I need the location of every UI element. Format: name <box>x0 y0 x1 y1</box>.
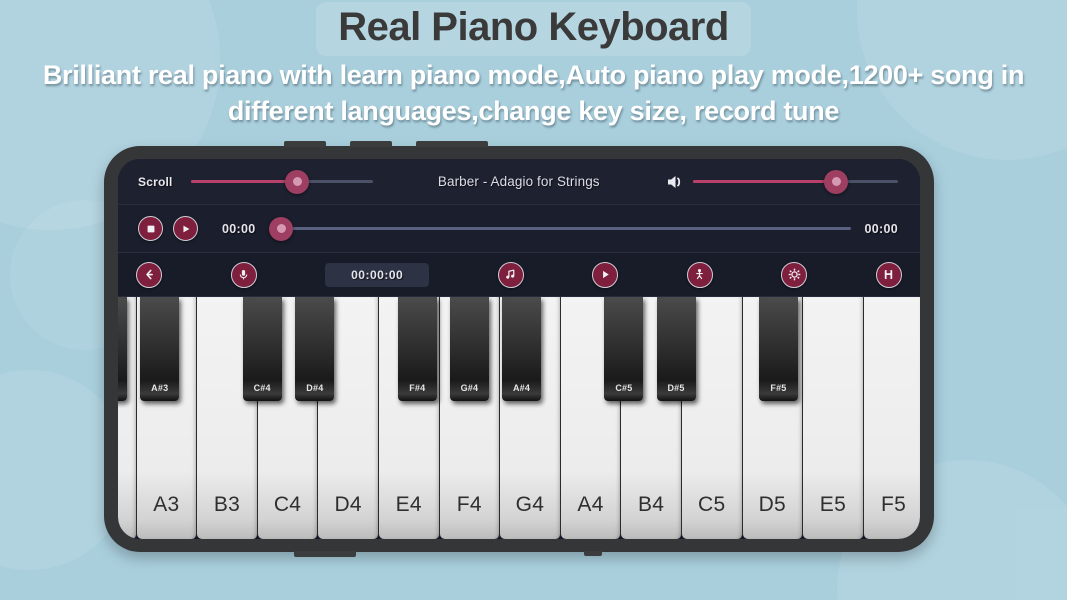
white-key-label: C4 <box>274 493 301 517</box>
toolbar-actions-row: 00:00:00 <box>118 253 920 297</box>
white-key-label: E4 <box>396 493 422 517</box>
elapsed-time: 00:00 <box>222 222 255 236</box>
white-key-label: B3 <box>214 493 240 517</box>
white-key[interactable]: E5 <box>803 297 864 539</box>
slider-thumb[interactable] <box>285 170 309 194</box>
black-key[interactable]: G#3 <box>118 297 127 401</box>
app-promo-screenshot: Real Piano Keyboard Brilliant real piano… <box>0 0 1067 600</box>
black-key[interactable]: D#4 <box>295 297 334 401</box>
white-key-label: D5 <box>759 493 786 517</box>
white-key-label: F4 <box>457 493 482 517</box>
white-key-label: A3 <box>153 493 179 517</box>
stop-icon <box>145 223 157 235</box>
seek-slider[interactable] <box>269 219 850 239</box>
page-title: Real Piano Keyboard <box>338 4 729 50</box>
slider-fill <box>191 180 293 183</box>
device-button <box>284 141 326 147</box>
slider-track <box>269 227 850 230</box>
black-key-label: D#4 <box>306 383 323 393</box>
device-button <box>350 141 392 147</box>
white-key-label: E5 <box>820 493 846 517</box>
black-key-label: A#3 <box>151 383 168 393</box>
black-key-label: G#4 <box>461 383 479 393</box>
phone-screen: Scroll Barber - Adagio for Strings <box>118 159 920 539</box>
settings-button[interactable] <box>781 262 807 288</box>
phone-device-frame: Scroll Barber - Adagio for Strings <box>104 146 934 552</box>
black-key-label: F#5 <box>770 383 786 393</box>
black-key[interactable]: A#3 <box>140 297 179 401</box>
device-button <box>584 551 602 556</box>
toolbar-scroll-row: Scroll Barber - Adagio for Strings <box>118 159 920 205</box>
white-key-label: F5 <box>881 493 906 517</box>
white-key-label: G4 <box>516 493 545 517</box>
white-key-label: D4 <box>334 493 361 517</box>
slider-thumb[interactable] <box>269 217 293 241</box>
white-key[interactable]: F5 <box>864 297 920 539</box>
microphone-icon <box>237 268 250 281</box>
header-title-area: Real Piano Keyboard <box>0 0 1067 56</box>
scroll-label: Scroll <box>138 175 173 189</box>
white-key-label: C5 <box>698 493 725 517</box>
timecode-display[interactable]: 00:00:00 <box>325 263 429 287</box>
black-key[interactable]: D#5 <box>657 297 696 401</box>
volume-icon <box>665 172 685 192</box>
slider-thumb[interactable] <box>824 170 848 194</box>
white-key-label: A4 <box>577 493 603 517</box>
device-button <box>294 551 356 557</box>
white-key-label: B4 <box>638 493 664 517</box>
gear-icon <box>788 268 801 281</box>
scroll-slider[interactable] <box>191 172 373 192</box>
back-button[interactable] <box>136 262 162 288</box>
song-title: Barber - Adagio for Strings <box>373 174 665 189</box>
play-icon <box>180 223 192 235</box>
black-key-label: D#5 <box>667 383 684 393</box>
black-key[interactable]: F#5 <box>759 297 798 401</box>
black-key-label: C#5 <box>615 383 632 393</box>
songs-button[interactable] <box>498 262 524 288</box>
slider-fill <box>693 180 832 183</box>
black-key[interactable]: C#5 <box>604 297 643 401</box>
black-key-label: A#4 <box>513 383 530 393</box>
device-button <box>416 141 488 147</box>
black-key-label: C#4 <box>254 383 271 393</box>
black-key[interactable]: C#4 <box>243 297 282 401</box>
music-note-icon <box>504 268 517 281</box>
play-button[interactable] <box>173 216 198 241</box>
black-key-label: F#4 <box>409 383 425 393</box>
total-time: 00:00 <box>865 222 898 236</box>
black-key[interactable]: A#4 <box>502 297 541 401</box>
back-arrow-icon <box>143 268 156 281</box>
save-icon <box>882 268 895 281</box>
black-key[interactable]: G#4 <box>450 297 489 401</box>
kids-mode-icon <box>693 268 706 281</box>
kids-mode-button[interactable] <box>687 262 713 288</box>
play-icon <box>599 268 612 281</box>
piano-keyboard[interactable]: A3B3C4D4E4F4G4A4B4C5D5E5F5 G#3A#3C#4D#4F… <box>118 297 920 539</box>
title-pill: Real Piano Keyboard <box>316 2 751 56</box>
volume-slider[interactable] <box>693 172 898 192</box>
stop-button[interactable] <box>138 216 163 241</box>
page-subtitle: Brilliant real piano with learn piano mo… <box>34 58 1034 129</box>
toolbar-playback-row: 00:00 00:00 <box>118 205 920 253</box>
save-button[interactable] <box>876 262 902 288</box>
auto-play-button[interactable] <box>592 262 618 288</box>
record-button[interactable] <box>231 262 257 288</box>
black-key[interactable]: F#4 <box>398 297 437 401</box>
